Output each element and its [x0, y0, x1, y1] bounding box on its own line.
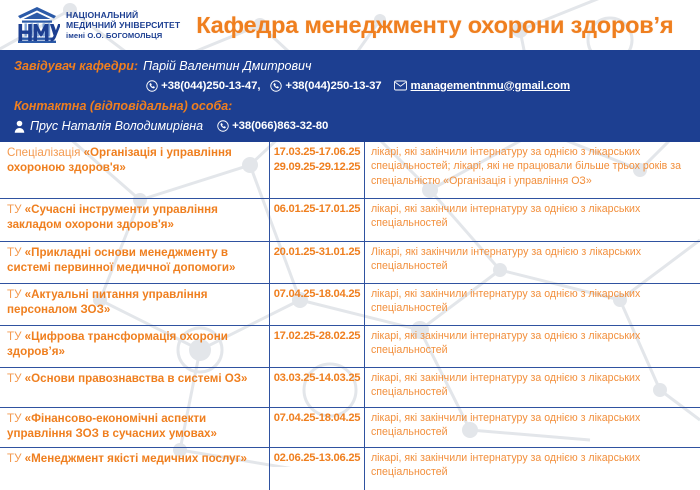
- course-prefix: ТУ: [7, 412, 25, 425]
- course-title: «Цифрова трансформація охорони здоров’я»: [7, 330, 228, 358]
- course-dates-cell: 07.04.25-18.04.25: [269, 284, 365, 325]
- course-name-cell: Спеціалізація «Організація і управління …: [0, 142, 269, 198]
- phone-circle-icon: [270, 80, 282, 92]
- course-prefix: ТУ: [7, 288, 25, 301]
- university-name-line1: НАЦІОНАЛЬНИЙ: [66, 10, 180, 20]
- course-name-cell: ТУ «Актуальні питання управління персона…: [0, 284, 269, 325]
- table-row[interactable]: ТУ «Прикладні основи менеджменту в систе…: [0, 242, 700, 284]
- header-bar: НАЦІОНАЛЬНИЙ МЕДИЧНИЙ УНІВЕРСИТЕТ імені …: [0, 0, 700, 50]
- page-title: Кафедра менеджменту охорони здоров’я: [196, 12, 673, 39]
- table-row[interactable]: ТУ «Актуальні питання управління персона…: [0, 284, 700, 326]
- course-audience-cell: лікарі, які закінчили інтернатуру за одн…: [365, 408, 700, 447]
- course-audience-cell: лікарі, які закінчили інтернатуру за одн…: [365, 368, 700, 407]
- course-name-cell: ТУ «Менеджмент якісті медичних послуг»: [0, 448, 269, 490]
- course-dates-cell: 06.01.25-17.01.25: [269, 199, 365, 241]
- course-prefix: Спеціалізація: [7, 146, 84, 159]
- university-name-line2: МЕДИЧНИЙ УНІВЕРСИТЕТ: [66, 20, 180, 30]
- head-phone-1-text: +38(044)250-13-47,: [161, 80, 260, 92]
- email-address: managementnmu@gmail.com: [411, 80, 570, 92]
- envelope-icon: [394, 80, 407, 91]
- head-phone-2-text: +38(044)250-13-37: [285, 80, 381, 92]
- course-dates-cell: 20.01.25-31.01.25: [269, 242, 365, 283]
- course-title: «Актуальні питання управління персоналом…: [7, 288, 208, 316]
- contact-info-band: Завідувач кафедри: Парій Валентин Дмитро…: [0, 50, 700, 140]
- course-title: «Фінансово-економічні аспекти управління…: [7, 412, 217, 440]
- course-prefix: ТУ: [7, 372, 25, 385]
- course-dates-cell: 17.02.25-28.02.25: [269, 326, 365, 367]
- course-name-cell: ТУ «Основи правознавства в системі ОЗ»: [0, 368, 269, 407]
- head-phone-1[interactable]: +38(044)250-13-47,: [146, 80, 260, 92]
- course-title: «Менеджмент якісті медичних послуг»: [25, 452, 247, 465]
- head-of-department-row: Завідувач кафедри: Парій Валентин Дмитро…: [14, 56, 688, 75]
- contact-person-phone-text: +38(066)863-32-80: [232, 120, 328, 132]
- table-row[interactable]: ТУ «Основи правознавства в системі ОЗ» 0…: [0, 368, 700, 408]
- course-dates-cell: 02.06.25-13.06.25: [269, 448, 365, 490]
- course-title: «Прикладні основи менеджменту в системі …: [7, 246, 235, 274]
- contact-person-name: Прус Наталія Володимирівна: [30, 119, 203, 133]
- head-of-department-name: Парій Валентин Дмитрович: [143, 59, 311, 73]
- phone-circle-icon: [217, 120, 229, 132]
- courses-table: Спеціалізація «Організація і управління …: [0, 140, 700, 490]
- table-row[interactable]: ТУ «Фінансово-економічні аспекти управлі…: [0, 408, 700, 448]
- course-audience-cell: лікарі, які закінчили інтернатуру за одн…: [365, 199, 700, 241]
- department-phones-row: +38(044)250-13-47, +38(044)250-13-37: [14, 75, 688, 96]
- course-prefix: ТУ: [7, 246, 25, 259]
- phone-circle-icon: [146, 80, 158, 92]
- contact-person-label-row: Контактна (відповідальна) особа:: [14, 96, 688, 115]
- course-dates-cell: 03.03.25-14.03.25: [269, 368, 365, 407]
- course-prefix: ТУ: [7, 452, 25, 465]
- university-logo: НАЦІОНАЛЬНИЙ МЕДИЧНИЙ УНІВЕРСИТЕТ імені …: [14, 4, 180, 46]
- university-name: НАЦІОНАЛЬНИЙ МЕДИЧНИЙ УНІВЕРСИТЕТ імені …: [66, 10, 180, 40]
- contact-person-row: Прус Наталія Володимирівна +38(066)863-3…: [14, 115, 688, 137]
- course-audience-cell: лікарі, які закінчили інтернатуру за одн…: [365, 284, 700, 325]
- course-prefix: ТУ: [7, 203, 25, 216]
- table-row[interactable]: ТУ «Цифрова трансформація охорони здоров…: [0, 326, 700, 368]
- course-name-cell: ТУ «Сучасні інструменти управління закла…: [0, 199, 269, 241]
- course-audience-cell: лікарі, які закінчили інтернатуру за одн…: [365, 326, 700, 367]
- course-dates-cell: 07.04.25-18.04.25: [269, 408, 365, 447]
- course-name-cell: ТУ «Фінансово-економічні аспекти управлі…: [0, 408, 269, 447]
- course-prefix: ТУ: [7, 330, 25, 343]
- table-row[interactable]: ТУ «Сучасні інструменти управління закла…: [0, 199, 700, 242]
- course-title: «Основи правознавства в системі ОЗ»: [25, 372, 248, 385]
- table-row[interactable]: Спеціалізація «Організація і управління …: [0, 142, 700, 199]
- table-row[interactable]: ТУ «Менеджмент якісті медичних послуг» 0…: [0, 448, 700, 490]
- contact-person-label: Контактна (відповідальна) особа:: [14, 99, 232, 113]
- person-icon: [14, 120, 25, 133]
- poster-root: НАЦІОНАЛЬНИЙ МЕДИЧНИЙ УНІВЕРСИТЕТ імені …: [0, 0, 700, 467]
- contact-person-phone[interactable]: +38(066)863-32-80: [217, 120, 328, 132]
- course-audience-cell: лікарі, які закінчили інтернатуру за одн…: [365, 142, 700, 198]
- course-audience-cell: лікарі, які закінчили інтернатуру за одн…: [365, 448, 700, 490]
- course-title: «Сучасні інструменти управління закладом…: [7, 203, 218, 231]
- head-of-department-label: Завідувач кафедри:: [14, 59, 138, 73]
- head-phone-2[interactable]: +38(044)250-13-37: [270, 80, 381, 92]
- university-name-line3: імені О.О. БОГОМОЛЬЦЯ: [66, 31, 180, 40]
- email-link[interactable]: managementnmu@gmail.com: [394, 80, 570, 92]
- course-name-cell: ТУ «Цифрова трансформація охорони здоров…: [0, 326, 269, 367]
- nmu-building-logo-icon: [14, 4, 60, 46]
- course-name-cell: ТУ «Прикладні основи менеджменту в систе…: [0, 242, 269, 283]
- course-dates-cell: 17.03.25-17.06.25 29.09.25-29.12.25: [269, 142, 365, 198]
- course-audience-cell: Лікарі, які закінчили інтернатуру за одн…: [365, 242, 700, 283]
